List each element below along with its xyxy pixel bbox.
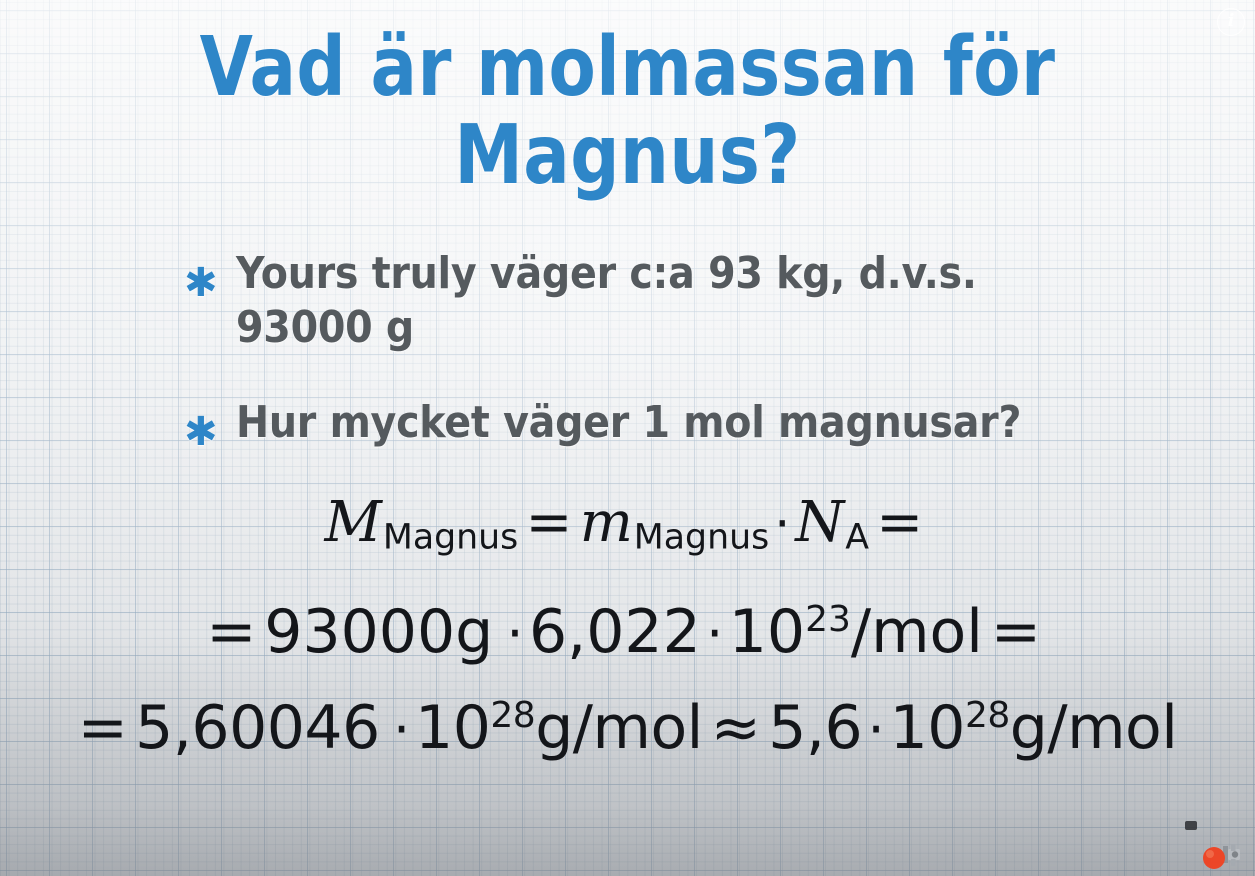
asterisk-bullet-icon: ✱ <box>184 396 236 452</box>
avogadro-symbol: N <box>795 490 845 555</box>
avogadro-subscript: A <box>845 518 869 558</box>
page-title: Vad är molmassan för Magnus? <box>0 0 1255 195</box>
equation-line-2: =93000g·6,022·1023/mol= <box>0 602 1255 663</box>
bullet-list: ✱ Yours truly väger c:a 93 kg, d.v.s. 93… <box>0 247 1255 452</box>
mass-symbol: m <box>580 490 634 555</box>
slide-canvas: Vad är molmassan för Magnus? ✱ Yours tru… <box>0 0 1255 876</box>
equation-line-3: =5,60046·1028g/mol≈5,6·1028g/mol <box>0 698 1255 759</box>
molar-mass-symbol: M <box>325 490 383 555</box>
leading-equals-sign: = <box>206 597 256 667</box>
info-icon[interactable]: i <box>1217 8 1245 36</box>
multiplication-dot: · <box>769 494 795 553</box>
asterisk-bullet-icon: ✱ <box>184 247 236 303</box>
cursor-mark-icon <box>1185 821 1197 830</box>
bullet-text-block: Yours truly väger c:a 93 kg, d.v.s. 9300… <box>236 247 977 354</box>
mass-subscript: Magnus <box>634 518 769 558</box>
power-base: 10 <box>729 597 805 667</box>
leading-equals-sign: = <box>78 693 128 763</box>
bullet-line: Hur mycket väger 1 mol magnusar? <box>236 396 1021 450</box>
page-title-line-1: Vad är molmassan för <box>100 0 1154 108</box>
power-base: 10 <box>890 693 965 763</box>
multiplication-dot: · <box>501 602 529 665</box>
mass-value: 93000g <box>256 597 501 667</box>
gram-per-mole-unit: g/mol <box>1010 693 1178 763</box>
list-item: ✱ Hur mycket väger 1 mol magnusar? <box>184 396 1195 452</box>
power-exponent: 23 <box>805 600 851 641</box>
bullet-line: 93000 g <box>236 301 977 355</box>
per-mole-unit: /mol <box>851 597 983 667</box>
approximately-equal-sign: ≈ <box>703 693 768 763</box>
multiplication-dot: · <box>388 698 415 761</box>
trailing-equals-sign: = <box>869 490 930 555</box>
equation-block: MMagnus=mMagnus·NA= =93000g·6,022·1023/m… <box>0 494 1255 758</box>
molar-mass-subscript: Magnus <box>383 518 518 558</box>
power-exponent: 28 <box>490 695 535 736</box>
rounded-mantissa: 5,6 <box>768 693 862 763</box>
multiplication-dot: · <box>701 602 729 665</box>
equals-sign: = <box>518 490 579 555</box>
gram-per-mole-unit: g/mol <box>535 693 703 763</box>
power-base: 10 <box>415 693 490 763</box>
exact-mantissa: 5,60046 <box>127 693 387 763</box>
page-title-line-2: Magnus? <box>100 108 1154 196</box>
power-exponent: 28 <box>965 695 1010 736</box>
list-item: ✱ Yours truly väger c:a 93 kg, d.v.s. 93… <box>184 247 1195 354</box>
bullet-text-block: Hur mycket väger 1 mol magnusar? <box>236 396 1021 450</box>
bullet-line: Yours truly väger c:a 93 kg, d.v.s. <box>236 247 977 301</box>
slide-content: Vad är molmassan för Magnus? ✱ Yours tru… <box>0 0 1255 759</box>
equation-line-1: MMagnus=mMagnus·NA= <box>0 494 1255 556</box>
avogadro-mantissa: 6,022 <box>529 597 701 667</box>
red-sphere-logo-icon <box>1197 840 1243 870</box>
multiplication-dot: · <box>862 698 889 761</box>
trailing-equals-sign: = <box>983 597 1049 667</box>
